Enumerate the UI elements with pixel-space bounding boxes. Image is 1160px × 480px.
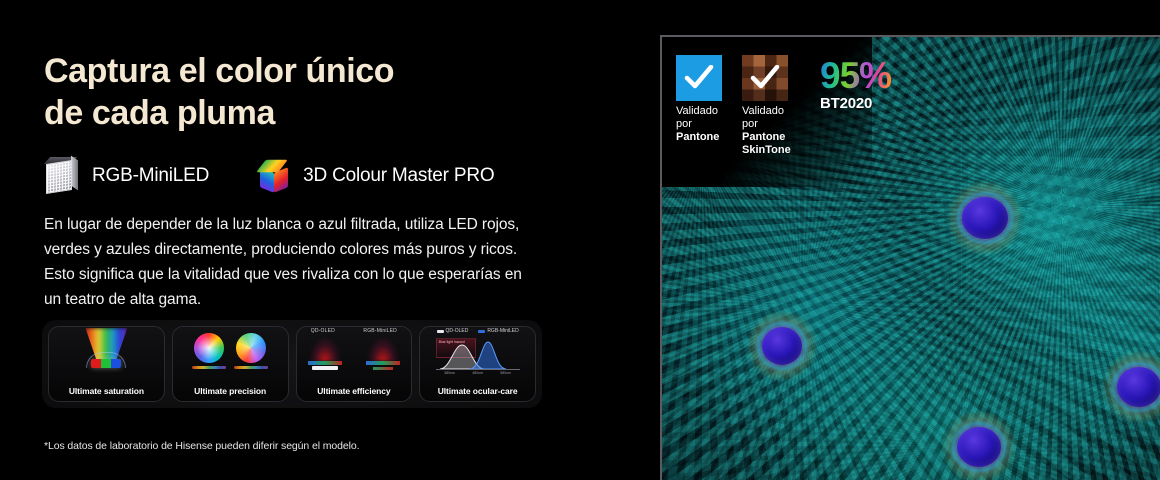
feature-cards-container: Ultimate saturation Ultimate precision Q… bbox=[42, 320, 542, 408]
promo-banner: Captura el color único de cada pluma RGB… bbox=[0, 0, 1160, 480]
card-ultimate-efficiency[interactable]: QD-OLED RGB-MiniLED Ultimate efficiency bbox=[296, 326, 413, 402]
badge-line-2: por bbox=[742, 118, 758, 130]
feature-badge-row: RGB-MiniLED 3D Colour Master PRO bbox=[44, 156, 494, 196]
feature-colour-master: 3D Colour Master PRO bbox=[257, 158, 494, 194]
badge-line-4: SkinTone bbox=[742, 144, 798, 157]
legend-swatch-icon bbox=[437, 330, 444, 333]
feature-label-colour-master: 3D Colour Master PRO bbox=[303, 165, 494, 187]
left-content-column: Captura el color único de cada pluma RGB… bbox=[0, 0, 660, 480]
badge-pantone-skintone: Validado por Pantone SkinTone bbox=[742, 55, 798, 157]
legend-qd-oled: QD-OLED bbox=[437, 328, 469, 334]
feature-label-rgb-miniled: RGB-MiniLED bbox=[92, 165, 209, 187]
feather-eye bbox=[957, 427, 1001, 467]
bt2020-value: 95% bbox=[820, 57, 891, 94]
check-icon bbox=[684, 65, 714, 91]
legend-swatch-icon bbox=[478, 330, 485, 333]
efficiency-comparison-graphic: QD-OLED RGB-MiniLED bbox=[297, 327, 412, 379]
card-title: Ultimate precision bbox=[194, 386, 266, 396]
card-title: Ultimate saturation bbox=[69, 386, 144, 396]
bt2020-label: BT2020 bbox=[820, 95, 891, 112]
card-title: Ultimate ocular-care bbox=[438, 386, 518, 396]
badge-line-3: Pantone bbox=[742, 131, 798, 144]
legend-rgb-miniled: RGB-MiniLED bbox=[478, 328, 518, 334]
badge-pantone-text: Validado por Pantone bbox=[676, 105, 732, 144]
spectrum-curves bbox=[436, 341, 520, 369]
efficiency-label-qd-oled: QD-OLED bbox=[311, 328, 335, 334]
feather-eye bbox=[962, 197, 1008, 239]
colour-wheels-graphic bbox=[173, 329, 288, 381]
axis-tick: 480nm bbox=[472, 371, 483, 375]
pantone-skintone-swatch bbox=[742, 55, 788, 101]
pantone-blue-swatch bbox=[676, 55, 722, 101]
card-title: Ultimate efficiency bbox=[317, 386, 390, 396]
feature-rgb-miniled: RGB-MiniLED bbox=[44, 156, 209, 196]
card-ultimate-precision[interactable]: Ultimate precision bbox=[172, 326, 289, 402]
check-icon bbox=[750, 65, 780, 91]
saturation-beam-graphic bbox=[49, 329, 164, 381]
badge-pantone: Validado por Pantone bbox=[676, 55, 732, 144]
axis-tick: 580nm bbox=[500, 371, 511, 375]
badge-line-1: Validado bbox=[742, 105, 784, 117]
axis-tick: 380nm bbox=[444, 371, 455, 375]
feather-eye bbox=[1117, 367, 1160, 407]
badge-pantone-skintone-text: Validado por Pantone SkinTone bbox=[742, 105, 798, 157]
card-ultimate-saturation[interactable]: Ultimate saturation bbox=[48, 326, 165, 402]
card-ultimate-ocular-care[interactable]: QD-OLED RGB-MiniLED Blue light hazard bbox=[419, 326, 536, 402]
rgb-miniled-panel-icon bbox=[44, 156, 80, 196]
colour-cube-icon bbox=[257, 158, 291, 194]
badge-line-3: Pantone bbox=[676, 131, 732, 144]
feather-eye bbox=[762, 327, 802, 365]
ocular-care-chart-graphic: QD-OLED RGB-MiniLED Blue light hazard bbox=[420, 327, 535, 379]
badge-line-2: por bbox=[676, 118, 692, 130]
badge-bt2020: 95% BT2020 bbox=[820, 57, 891, 112]
efficiency-label-rgb-miniled: RGB-MiniLED bbox=[363, 328, 397, 334]
page-title: Captura el color único de cada pluma bbox=[44, 50, 394, 134]
disclaimer-footnote: *Los datos de laboratorio de Hisense pue… bbox=[44, 440, 359, 452]
certification-badges: Validado por Pantone Validad bbox=[676, 55, 891, 157]
body-paragraph: En lugar de depender de la luz blanca o … bbox=[44, 212, 534, 312]
badge-line-1: Validado bbox=[676, 105, 718, 117]
tv-screen-panel: Validado por Pantone Validad bbox=[660, 35, 1160, 480]
